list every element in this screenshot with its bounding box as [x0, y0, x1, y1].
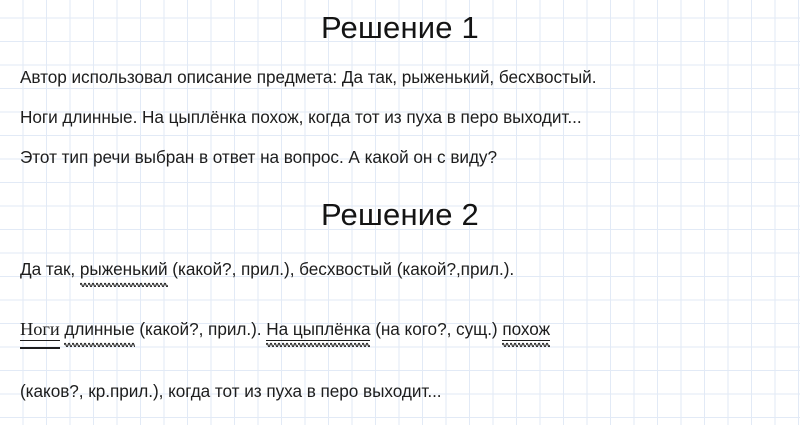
worksheet-content: Решение 1 Автор использовал описание пре…	[0, 0, 800, 425]
wavy-underlined-word: длинные	[64, 318, 134, 340]
solution-2-line-3: (каков?, кр.прил.), когда тот из пуха в …	[20, 380, 792, 402]
solution-2-line-1: Да так, рыженький (какой?, прил.), бесхв…	[20, 258, 792, 280]
solution-2-line-2: Ноги длинные (какой?, прил.). На цыплёнк…	[20, 318, 792, 340]
solution-1-line-1: Автор использовал описание предмета: Да …	[20, 66, 792, 88]
section-heading-solution-2: Решение 2	[0, 197, 800, 233]
wavy-underline-mark	[64, 341, 134, 347]
text-run: (на кого?, сущ.)	[370, 319, 502, 339]
underlined-wavy-word: похож	[502, 318, 550, 340]
wavy-underline-mark	[266, 341, 370, 347]
wavy-underlined-word: рыженький	[80, 258, 168, 280]
solution-1-line-3: Этот тип речи выбран в ответ на вопрос. …	[20, 146, 792, 168]
text-run: (какой?, прил.).	[135, 319, 267, 339]
wavy-underline-mark	[80, 281, 168, 287]
wavy-underline-mark	[502, 341, 550, 347]
solution-1-line-2: Ноги длинные. На цыплёнка похож, когда т…	[20, 106, 792, 128]
double-underlined-word: Ноги	[20, 318, 60, 340]
text-run: (какой?, прил.), бесхвостый (какой?,прил…	[168, 259, 515, 279]
section-heading-solution-1: Решение 1	[0, 10, 800, 46]
worksheet-page: Решение 1 Автор использовал описание пре…	[0, 0, 800, 425]
underlined-wavy-word: На цыплёнка	[266, 318, 370, 340]
text-run: Да так,	[20, 259, 80, 279]
text-run: (каков?, кр.прил.), когда тот из пуха в …	[20, 381, 442, 401]
